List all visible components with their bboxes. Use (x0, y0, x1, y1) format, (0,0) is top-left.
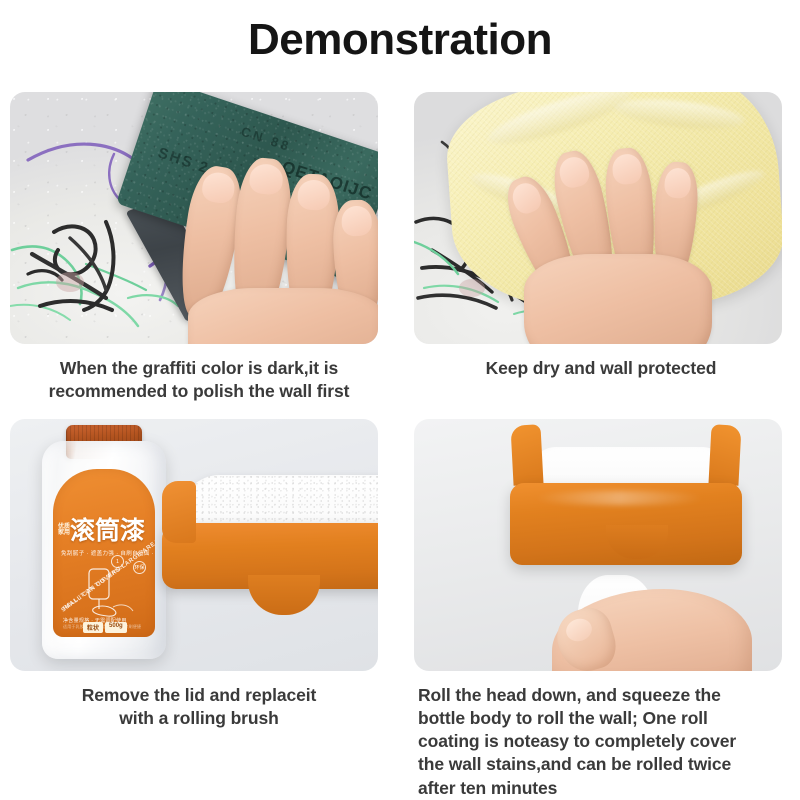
fingernail (200, 170, 237, 205)
caption-line: bottle body to roll the wall; One roll (418, 707, 790, 730)
roller-brush-head (162, 475, 378, 631)
fingernail (248, 163, 284, 196)
badge-type: 粒状 (83, 622, 103, 633)
demonstration-grid: QETAOIJC SHS 2 CN 88 (0, 92, 800, 800)
photo-bottle-and-roller: 优质家用 滚筒漆 免刮腻子 · 遮盖力强 · 自刷自墙面 · 环保无异味 SMA… (10, 419, 378, 671)
roller-horn-left (510, 424, 543, 485)
label-main-text: 滚筒漆 (70, 519, 145, 544)
fingernail (611, 153, 642, 185)
fingernail (341, 206, 372, 237)
roller-stem (248, 575, 320, 615)
panel-wipe: Keep dry and wall protected (406, 92, 796, 403)
product-label: 优质家用 滚筒漆 免刮腻子 · 遮盖力强 · 自刷自墙面 · 环保无异味 SMA… (53, 469, 155, 637)
demonstration-page: Demonstration (0, 0, 800, 800)
palm (188, 288, 378, 344)
palm (524, 254, 712, 344)
panel-roll-wall: Roll the head down, and squeeze the bott… (406, 419, 796, 799)
panel-polish: QETAOIJC SHS 2 CN 88 (4, 92, 394, 403)
fingernail (297, 179, 330, 210)
paint-bottle: 优质家用 滚筒漆 免刮腻子 · 遮盖力强 · 自刷自墙面 · 环保无异味 SMA… (42, 441, 166, 659)
caption-line: When the graffiti color is dark,it is (10, 357, 388, 380)
caption-line: with a rolling brush (10, 707, 388, 730)
page-title: Demonstration (0, 0, 800, 64)
hand-wiping (510, 122, 750, 344)
caption-wipe: Keep dry and wall protected (406, 344, 796, 380)
hand-holding-block (178, 160, 378, 344)
fingernail (508, 179, 545, 217)
caption-line: coating is noteasy to completely cover (418, 730, 790, 753)
caption-line: Roll the head down, and squeeze the (418, 684, 790, 707)
photo-roll-on-wall (414, 419, 782, 671)
roller-end-cap (162, 481, 196, 543)
label-badge-text: 优质家用 (58, 524, 70, 537)
caption-replace-lid: Remove the lid and replaceit with a roll… (4, 671, 394, 730)
photo-wipe-wall (414, 92, 782, 344)
caption-polish: When the graffiti color is dark,it is re… (4, 344, 394, 403)
caption-line: the wall stains,and can be rolled twice (418, 753, 790, 776)
roller-horn-right (708, 424, 741, 485)
fingernail (664, 167, 692, 199)
caption-line: recommended to polish the wall first (10, 380, 388, 403)
photo-polish-wall: QETAOIJC SHS 2 CN 88 (10, 92, 378, 344)
caption-line: Keep dry and wall protected (412, 357, 790, 380)
caption-line: Remove the lid and replaceit (10, 684, 388, 707)
badge-weight: 500g (105, 622, 127, 633)
label-weight-badge: 粒状 500g (83, 622, 127, 633)
panel-replace-lid: 优质家用 滚筒漆 免刮腻子 · 遮盖力强 · 自刷自墙面 · 环保无异味 SMA… (4, 419, 394, 799)
caption-line: after ten minutes (418, 777, 790, 800)
hand-pressing-roller (552, 573, 752, 671)
caption-roll-wall: Roll the head down, and squeeze the bott… (406, 671, 796, 799)
fingernail (557, 154, 592, 190)
